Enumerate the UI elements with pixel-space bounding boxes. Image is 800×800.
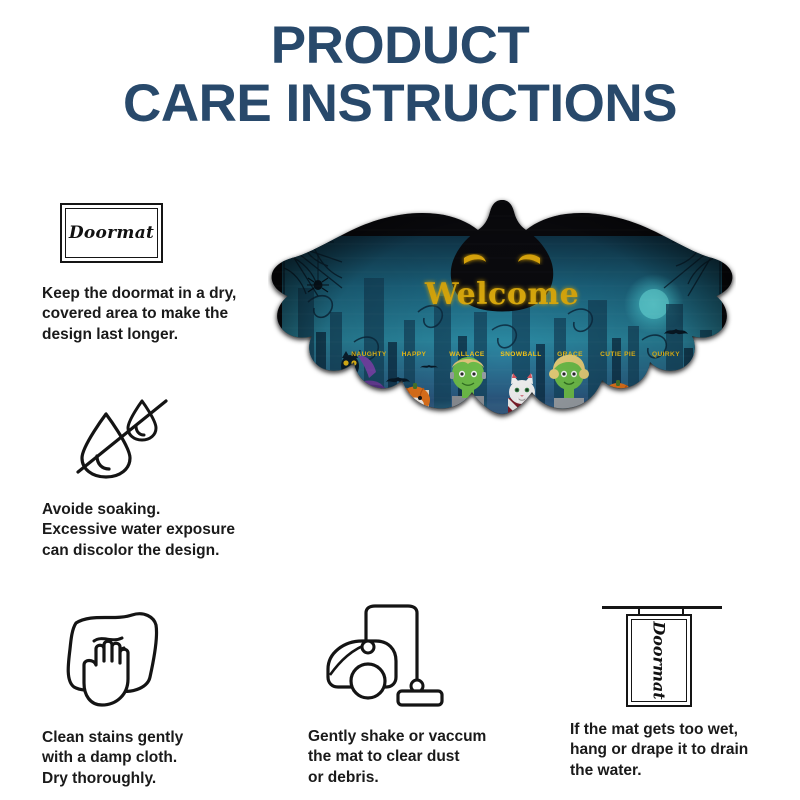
pet-name-1: HAPPY <box>402 351 427 358</box>
care-item-shake-vacuum: Gently shake or vaccum the mat to clear … <box>308 603 533 788</box>
jack-o-lantern-left <box>330 438 362 470</box>
care-text-dry-storage: Keep the doormat in a dry, covered area … <box>42 284 257 345</box>
character-snowball <box>508 373 536 424</box>
care-item-no-soaking: Avoide soaking. Excessive water exposure… <box>42 398 257 561</box>
welcome-label: Welcome <box>424 277 579 312</box>
care-instructions-page: PRODUCT CARE INSTRUCTIONS Doormat Keep t… <box>0 0 800 800</box>
hanging-doormat-icon: Doormat <box>602 600 722 710</box>
product-image-bat-doormat: Welcome NAUGHTY HAPPY WALLACE SNOWBALL G… <box>268 192 736 534</box>
doormat-icon-label: Doormat <box>69 223 154 243</box>
doormat-scene: Welcome NAUGHTY HAPPY WALLACE SNOWBALL G… <box>268 192 736 534</box>
pet-name-0: NAUGHTY <box>351 351 387 358</box>
care-item-clean-stains: Clean stains gently with a damp cloth. D… <box>42 607 257 789</box>
care-item-hang-to-dry: Doormat If the mat gets too wet, hang or… <box>570 600 800 781</box>
ground-fog <box>302 402 702 454</box>
wood-plank <box>356 422 648 468</box>
pet-name-3: SNOWBALL <box>500 351 541 358</box>
hanging-doormat-label: Doormat <box>650 621 669 699</box>
no-water-drops-icon <box>68 398 257 488</box>
character-quirky <box>646 376 685 424</box>
moon <box>639 289 669 319</box>
care-text-shake-vacuum: Gently shake or vaccum the mat to clear … <box>308 727 533 788</box>
cloth-hand-wipe-icon <box>58 607 257 717</box>
banner-text: Foolish Mortals <box>355 429 648 465</box>
jack-o-lantern-right-lower <box>643 443 673 473</box>
care-text-clean-stains: Clean stains gently with a damp cloth. D… <box>42 728 257 789</box>
welcome-text: Welcome <box>424 277 579 312</box>
care-text-hang-to-dry: If the mat gets too wet, hang or drape i… <box>570 720 800 781</box>
pet-name-6: QUIRKY <box>652 351 680 358</box>
jack-o-lantern-right-upper <box>650 420 678 448</box>
page-title: PRODUCT CARE INSTRUCTIONS <box>0 18 800 131</box>
care-item-dry-storage: Doormat Keep the doormat in a dry, cover… <box>42 203 257 345</box>
care-text-no-soaking: Avoide soaking. Excessive water exposure… <box>42 500 257 561</box>
pet-name-5: CUTIE PIE <box>600 351 636 358</box>
pet-name-2: WALLACE <box>449 351 485 358</box>
page-title-line2: CARE INSTRUCTIONS <box>0 76 800 132</box>
hanging-rod <box>602 606 722 609</box>
vacuum-cleaner-icon <box>318 603 533 718</box>
page-title-line1: PRODUCT <box>0 18 800 74</box>
plank-grain <box>356 426 648 464</box>
doormat-rectangle-icon: Doormat <box>60 203 257 263</box>
banner-label: Foolish Mortals <box>355 429 648 465</box>
